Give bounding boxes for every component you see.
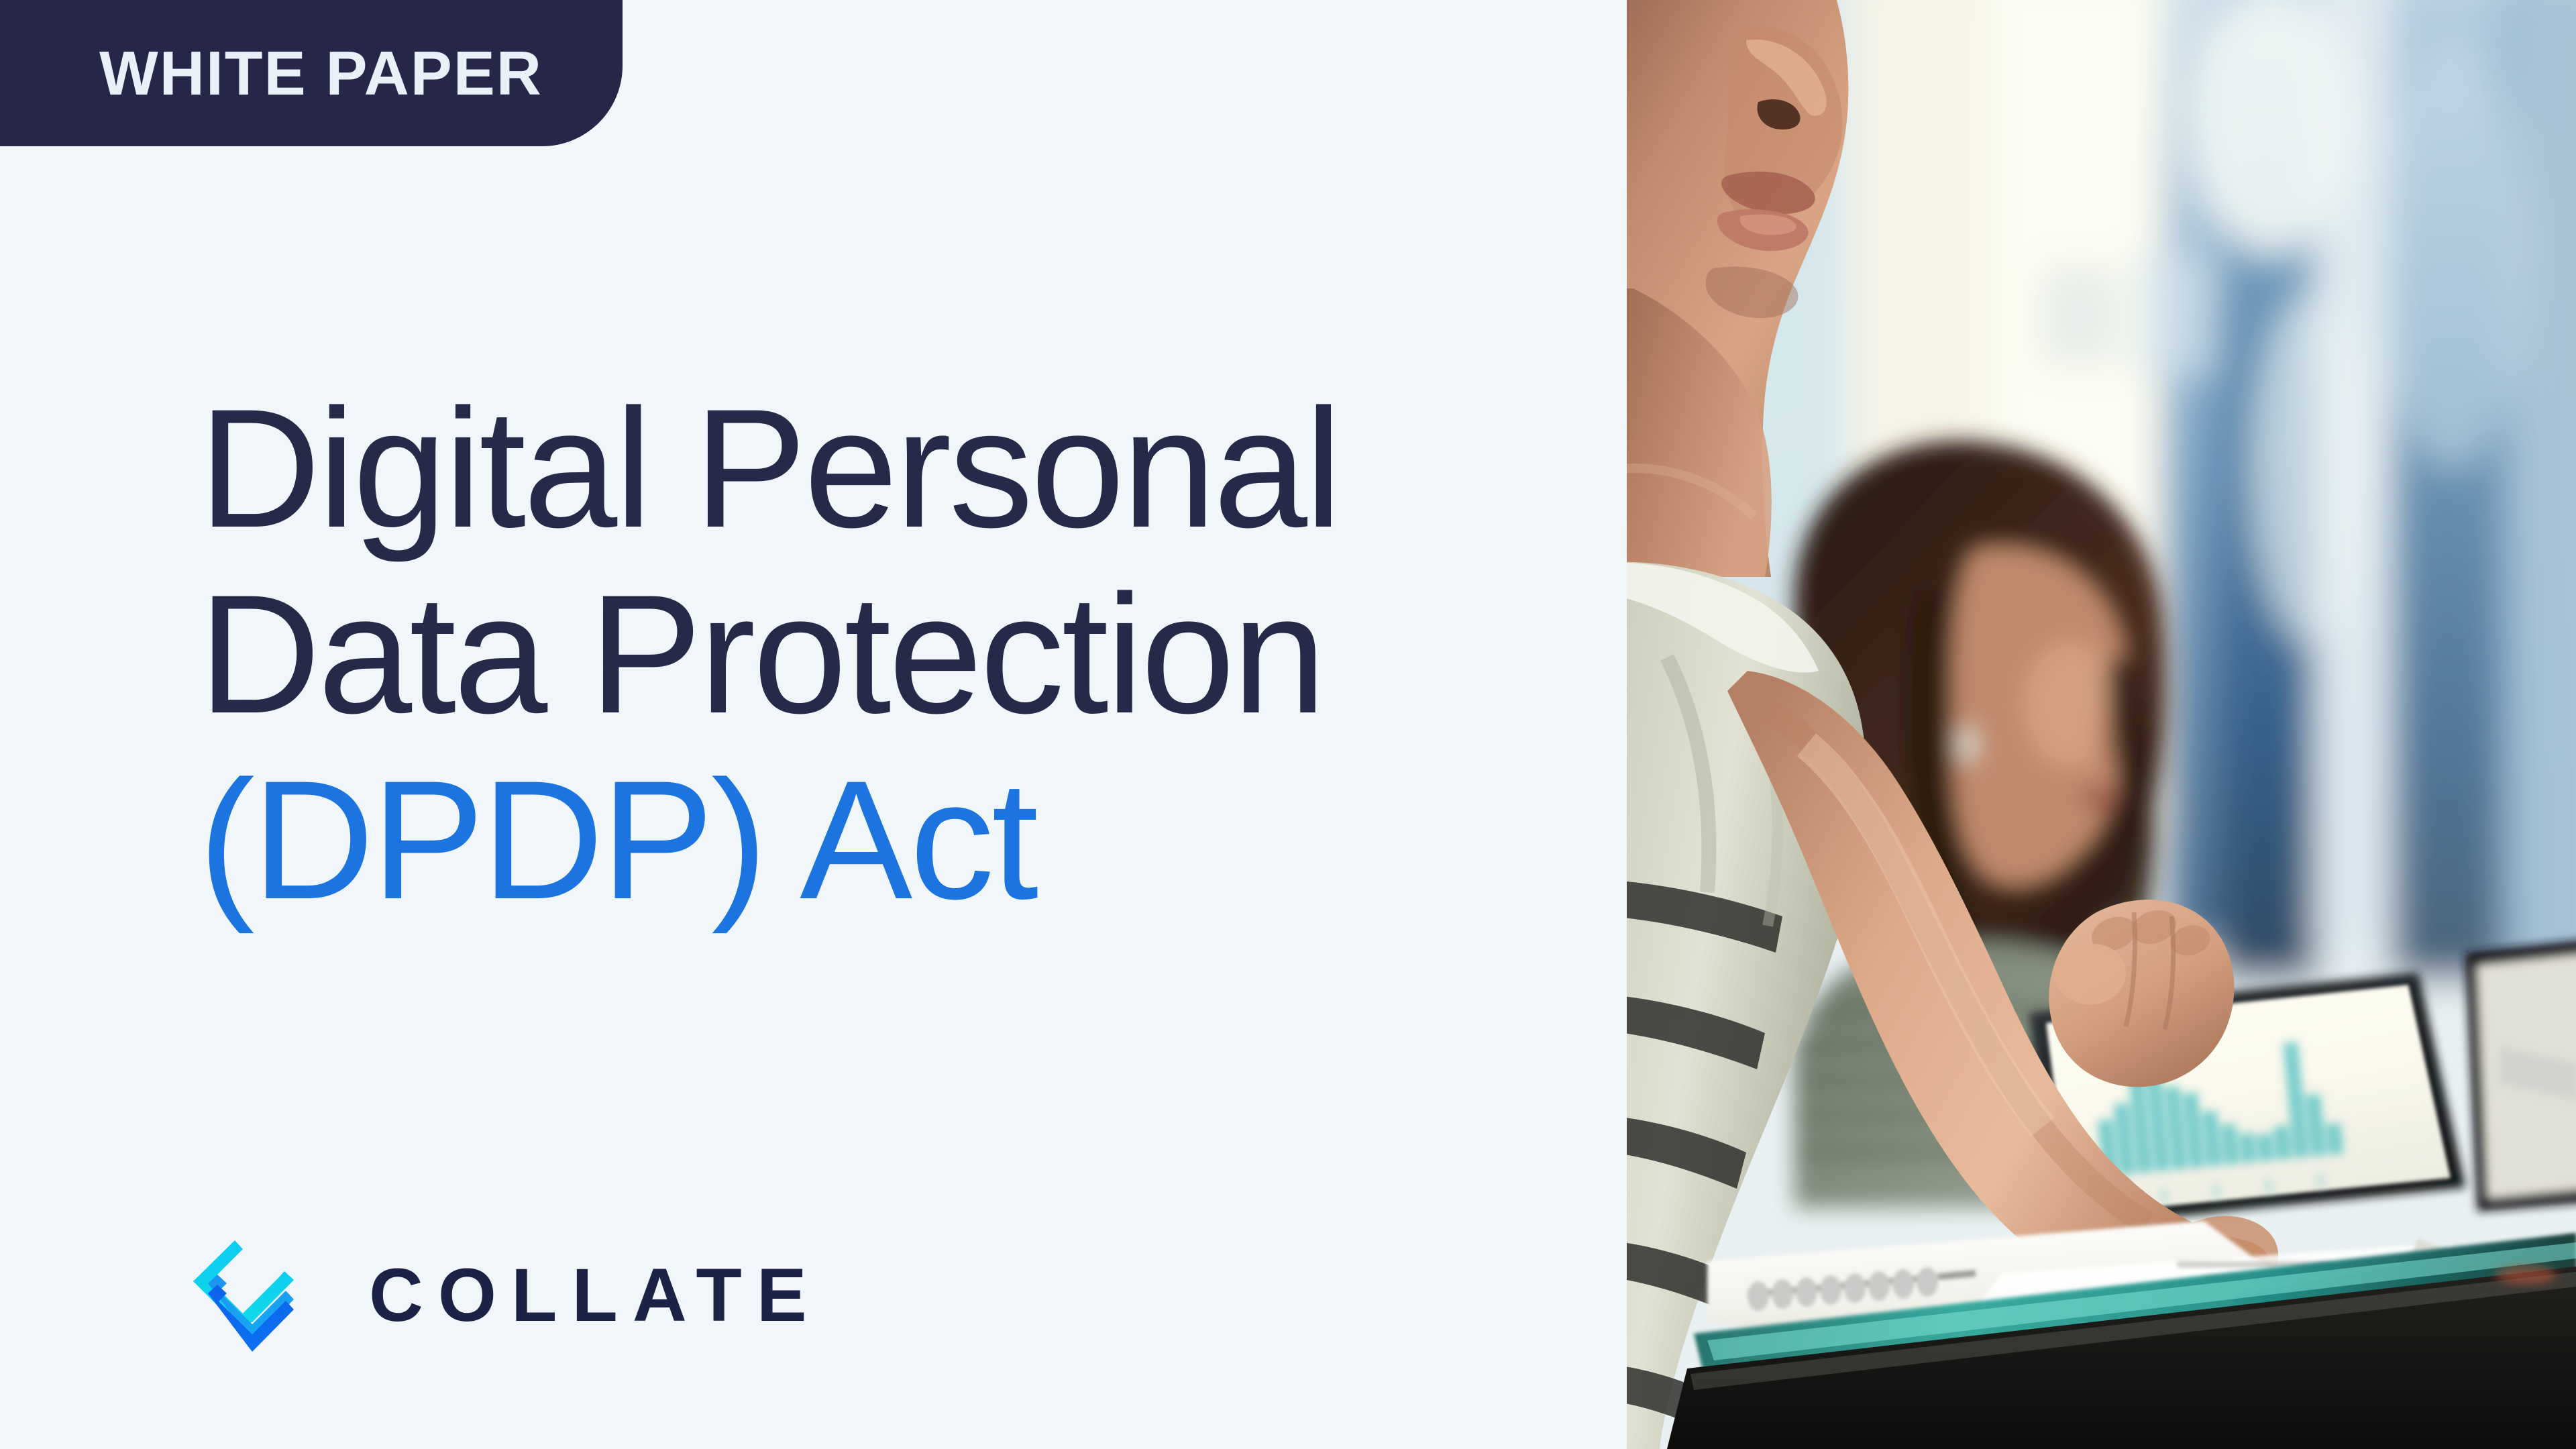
page-title-line-1: Digital Personal [199, 376, 1473, 561]
collate-logo: COLLATE [193, 1236, 822, 1354]
second-monitor [2465, 939, 2576, 1212]
collate-stacked-chevrons-icon [193, 1236, 325, 1354]
white-paper-badge: WHITE PAPER [0, 0, 623, 146]
page-title: Digital Personal Data Protection (DPDP) … [199, 376, 1473, 933]
page-title-line-2: Data Protection [199, 561, 1473, 747]
page-title-line-3: (DPDP) Act [199, 747, 1473, 933]
white-paper-badge-label: WHITE PAPER [99, 42, 543, 105]
cover-photograph [1627, 0, 2576, 1449]
white-paper-cover: WHITE PAPER Digital Personal Data Protec… [0, 0, 2576, 1449]
cover-left-panel: WHITE PAPER Digital Personal Data Protec… [0, 0, 1627, 1449]
office-scene-illustration [1627, 0, 2576, 1449]
collate-wordmark: COLLATE [369, 1258, 822, 1333]
